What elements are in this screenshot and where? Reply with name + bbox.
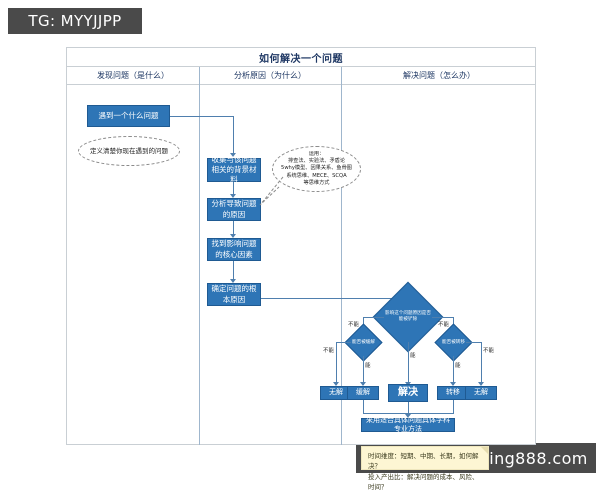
sticky-note-considerations: 时间维度：短期、中期、长期，如何解决？ 投入产出比：解决问题的成本、风险、时间？ [361,446,489,470]
edge-root-to-diamond-h [261,298,408,299]
edge-root-left-h [363,317,384,318]
node-root-cause[interactable]: 确定问题的根本原因 [207,283,261,306]
column-header-row: 发现问题（是什么） 分析原因（为什么） 解决问题（怎么办） [67,67,535,85]
column-header-discover: 发现问题（是什么） [67,67,199,84]
node-apply-method[interactable]: 采用适合具体问题具体学科专业方法 [361,418,455,432]
node-collect-material[interactable]: 收集与该问题相关的背景材料 [207,158,261,182]
column-header-solve: 解决问题（怎么办） [341,67,537,84]
node-no-solution-right[interactable]: 无解 [465,386,497,400]
edge-label-mitigate-yes: 能 [365,361,371,369]
edge-mitigate-yes [363,356,364,385]
edge-transfer-no-v [481,342,482,385]
node-start[interactable]: 遇到一个什么问题 [87,105,170,127]
edge-label-transfer-yes: 能 [455,361,461,369]
node-mitigate[interactable]: 缓解 [347,386,379,400]
edge-label-root-no-right: 不能 [438,320,449,328]
edge-mitigate-no-v [336,342,337,385]
node-analyze-cause[interactable]: 分析导致问题的原因 [207,198,261,221]
edge-root-down [408,342,409,385]
callout-line-2: 5why模型、因果关系、鱼骨图 [279,165,354,172]
edge-transfer-yes [453,356,454,385]
edge-label-mitigate-no: 不能 [323,346,334,354]
edge-core-to-root [233,261,234,281]
edge-label-root-no-left: 不能 [348,320,359,328]
edge-start-to-collect-v [233,116,234,154]
callout-define-problem: 定义清楚你现在遇到的问题 [78,136,180,166]
edge-mitigate-merge-v [363,400,364,413]
note-fold-icon [481,447,488,454]
column-divider-1 [199,67,200,445]
edge-mitigate-no-h [336,342,351,343]
node-core-factor[interactable]: 找到影响问题的核心因素 [207,238,261,261]
diagram-title-row: 如何解决一个问题 [67,48,535,67]
node-solve[interactable]: 解决 [388,384,428,402]
page-title: 如何解决一个问题 [259,50,343,65]
edge-transfer-merge-v [453,400,454,413]
edge-transfer-no-h [466,342,481,343]
edge-label-transfer-no: 不能 [483,346,494,354]
edge-root-right-h [432,317,454,318]
note-line-2: 投入产出比：解决问题的成本、风险、时间？ [368,472,482,493]
edge-label-root-yes: 能 [410,351,416,359]
telegram-watermark: TG: MYYJJPP [8,8,142,34]
callout-line-4: 等思维方式 [279,180,354,187]
column-header-analyze: 分析原因（为什么） [199,67,341,84]
edge-start-to-collect-h [170,116,233,117]
diagram-canvas: TG: MYYJJPP www.zhcnyunding888.com 如何解决一… [0,0,600,480]
note-line-1: 时间维度：短期、中期、长期，如何解决？ [368,451,482,472]
callout-line-3: 系统思维、MECE、SCQA [279,173,354,180]
callout-tail [257,173,287,209]
diagram-frame: 如何解决一个问题 发现问题（是什么） 分析原因（为什么） 解决问题（怎么办） 遇… [66,47,536,445]
